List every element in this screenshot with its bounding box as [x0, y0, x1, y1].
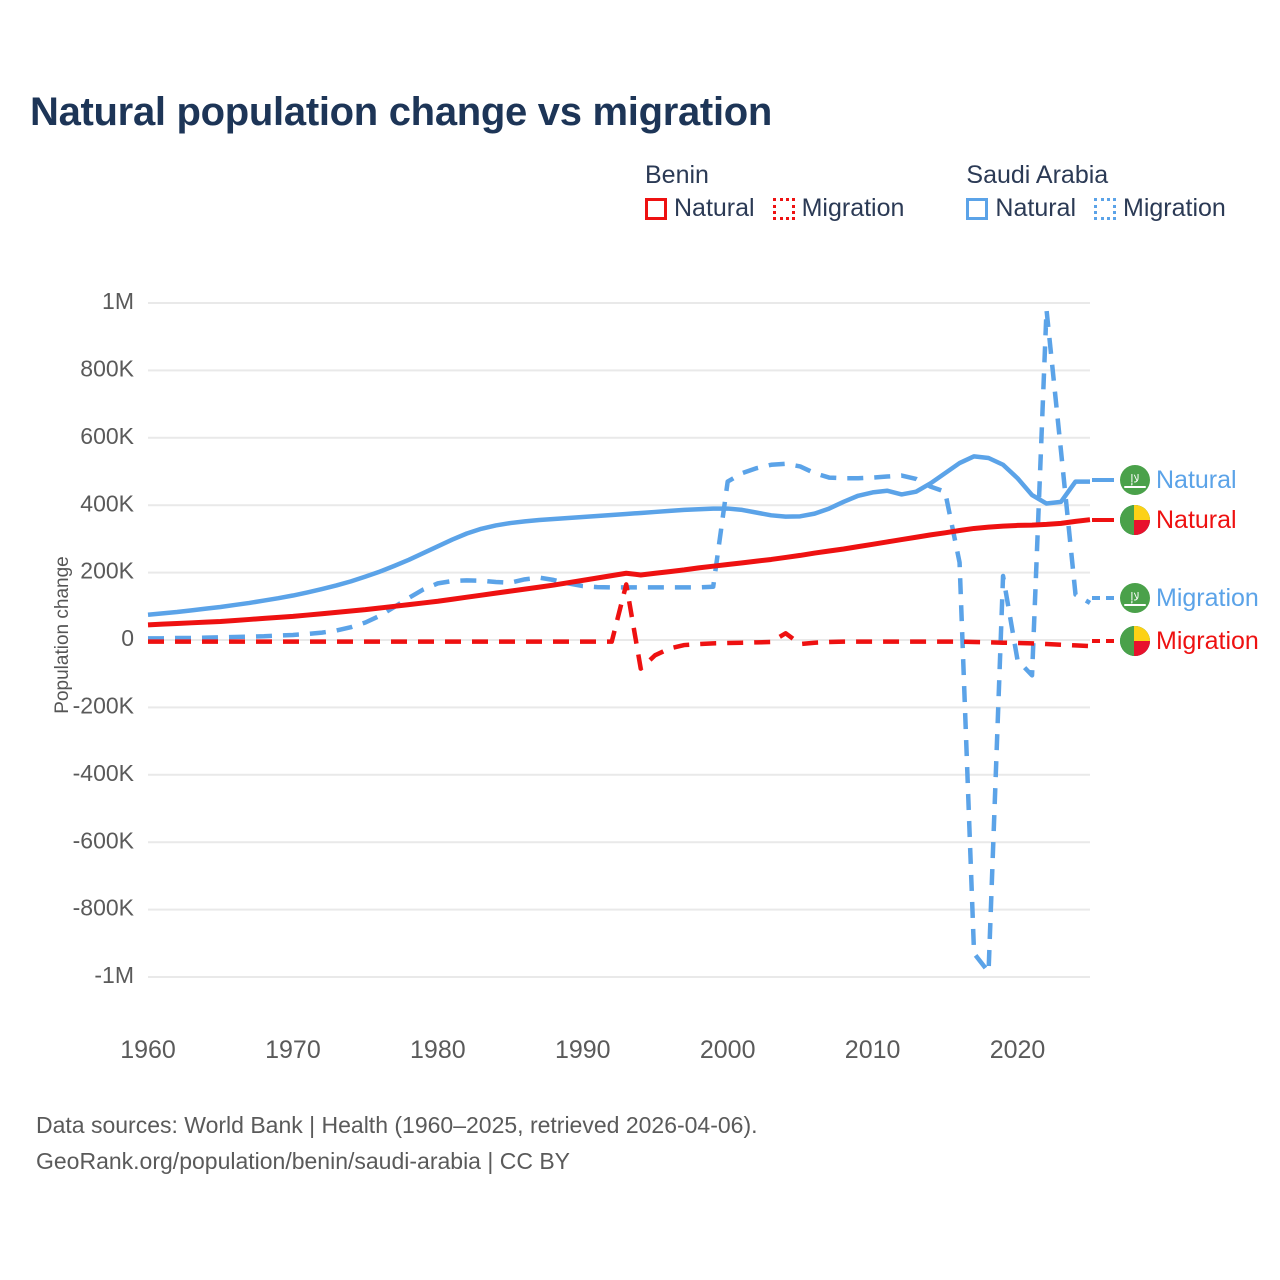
- legend-item-label: Migration: [802, 194, 905, 223]
- legend-item-benin-natural[interactable]: Natural: [645, 194, 755, 223]
- x-axis-tick-labels: 1960197019801990200020102020: [120, 1036, 1045, 1064]
- leader-line-icon: [1092, 639, 1114, 643]
- leader-line-icon: [1092, 518, 1114, 522]
- x-axis-tick-label: 1970: [265, 1036, 321, 1064]
- legend-entries-benin: Natural Migration: [645, 194, 904, 223]
- benin-flag-icon: [1120, 505, 1150, 535]
- series-line-saudi-arabia-migration: [148, 310, 1090, 972]
- end-label-saudi-arabia-natural[interactable]: لاإ Natural: [1092, 465, 1237, 495]
- legend-item-label: Migration: [1123, 194, 1226, 223]
- footer: Data sources: World Bank | Health (1960–…: [36, 1108, 758, 1179]
- x-axis-tick-label: 1990: [555, 1036, 611, 1064]
- end-label-benin-migration[interactable]: Migration: [1092, 626, 1259, 656]
- legend-group-saudi-arabia: Saudi Arabia Natural Migration: [966, 160, 1225, 223]
- y-axis-tick-label: -200K: [73, 692, 135, 718]
- legend-item-benin-migration[interactable]: Migration: [773, 194, 905, 223]
- legend-swatch-solid-icon: [966, 198, 988, 220]
- saudi-arabia-flag-icon: لاإ: [1120, 465, 1150, 495]
- y-axis-tick-label: -400K: [73, 760, 135, 786]
- footer-data-sources: Data sources: World Bank | Health (1960–…: [36, 1108, 758, 1144]
- legend-group-title-benin: Benin: [645, 160, 904, 190]
- legend: Benin Natural Migration Saudi Arabia Nat…: [645, 160, 1226, 223]
- end-label-text: Natural: [1156, 468, 1237, 493]
- legend-item-saudi-arabia-natural[interactable]: Natural: [966, 194, 1076, 223]
- x-axis-tick-label: 1980: [410, 1036, 466, 1064]
- series-line-benin-natural: [148, 520, 1090, 625]
- y-axis-tick-label: 0: [121, 625, 134, 651]
- legend-entries-saudi-arabia: Natural Migration: [966, 194, 1225, 223]
- legend-item-label: Natural: [674, 194, 755, 223]
- y-axis-tick-label: 200K: [80, 558, 134, 584]
- legend-group-benin: Benin Natural Migration: [645, 160, 904, 223]
- y-axis-tick-label: 600K: [80, 423, 134, 449]
- gridlines: [148, 303, 1090, 977]
- page-title: Natural population change vs migration: [30, 90, 772, 135]
- x-axis-tick-label: 1960: [120, 1036, 176, 1064]
- end-label-benin-natural[interactable]: Natural: [1092, 505, 1237, 535]
- x-axis-tick-label: 2020: [990, 1036, 1046, 1064]
- y-axis-tick-label: 400K: [80, 490, 134, 516]
- end-label-text: Migration: [1156, 586, 1259, 611]
- legend-item-saudi-arabia-migration[interactable]: Migration: [1094, 194, 1226, 223]
- y-axis-tick-label: 1M: [102, 288, 134, 314]
- legend-group-title-saudi-arabia: Saudi Arabia: [966, 160, 1225, 190]
- series-line-saudi-arabia-natural: [148, 456, 1090, 614]
- series-line-benin-migration: [148, 584, 1090, 668]
- end-label-text: Natural: [1156, 508, 1237, 533]
- y-axis-title: Population change: [52, 556, 73, 713]
- legend-swatch-solid-icon: [645, 198, 667, 220]
- benin-flag-icon: [1120, 626, 1150, 656]
- leader-line-icon: [1092, 596, 1114, 600]
- x-axis-tick-label: 2000: [700, 1036, 756, 1064]
- y-axis-tick-labels: 1M800K600K400K200K0-200K-400K-600K-800K-…: [73, 288, 135, 988]
- y-axis-tick-label: 800K: [80, 355, 134, 381]
- footer-attribution: GeoRank.org/population/benin/saudi-arabi…: [36, 1144, 758, 1180]
- legend-swatch-dotted-icon: [1094, 198, 1116, 220]
- leader-line-icon: [1092, 478, 1114, 482]
- y-axis-tick-label: -800K: [73, 895, 135, 921]
- legend-swatch-dotted-icon: [773, 198, 795, 220]
- end-label-saudi-arabia-migration[interactable]: لاإ Migration: [1092, 583, 1259, 613]
- series-lines: [148, 310, 1090, 972]
- saudi-arabia-flag-icon: لاإ: [1120, 583, 1150, 613]
- x-axis-tick-label: 2010: [845, 1036, 901, 1064]
- legend-item-label: Natural: [995, 194, 1076, 223]
- y-axis-tick-label: -1M: [94, 962, 134, 988]
- y-axis-tick-label: -600K: [73, 827, 135, 853]
- end-label-text: Migration: [1156, 629, 1259, 654]
